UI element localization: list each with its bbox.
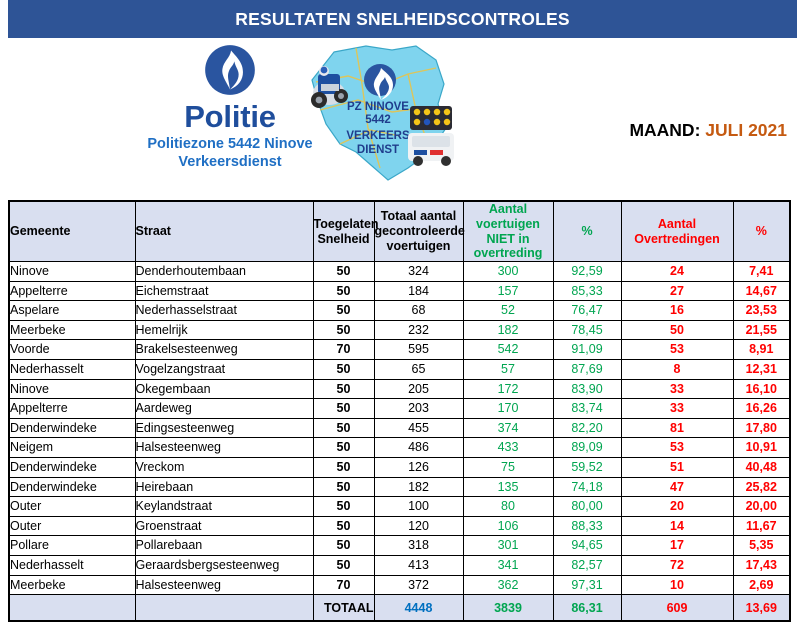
- month-label: MAAND: JULI 2021: [629, 120, 787, 141]
- cell-overtredingen: 33: [621, 379, 733, 399]
- cell-overtredingen: 10: [621, 575, 733, 595]
- cell-totaal: 232: [374, 320, 463, 340]
- totals-pct-ok: 86,31: [553, 595, 621, 622]
- table-row: AppelterreEichemstraat5018415785,332714,…: [9, 281, 790, 301]
- cell-niet-in-overtreding: 300: [463, 262, 553, 282]
- cell-niet-in-overtreding: 80: [463, 497, 553, 517]
- cell-straat: Vogelzangstraat: [135, 359, 313, 379]
- cell-totaal: 595: [374, 340, 463, 360]
- cell-niet-in-overtreding: 341: [463, 555, 553, 575]
- cell-straat: Groenstraat: [135, 516, 313, 536]
- cell-snelheid: 50: [313, 516, 374, 536]
- cell-niet-in-overtreding: 52: [463, 301, 553, 321]
- cell-straat: Edingsesteenweg: [135, 418, 313, 438]
- cell-niet-in-overtreding: 106: [463, 516, 553, 536]
- cell-niet-in-overtreding: 374: [463, 418, 553, 438]
- table-row: AspelareNederhasselstraat50685276,471623…: [9, 301, 790, 321]
- cell-niet-in-overtreding: 301: [463, 536, 553, 556]
- cell-totaal: 203: [374, 399, 463, 419]
- table-header-row: Gemeente Straat Toegelaten Snelheid Tota…: [9, 201, 790, 262]
- cell-snelheid: 50: [313, 262, 374, 282]
- cell-pct-ok: 89,09: [553, 438, 621, 458]
- cell-gemeente: Meerbeke: [9, 320, 135, 340]
- emblem-line-4: DIENST: [357, 144, 399, 156]
- cell-niet-in-overtreding: 182: [463, 320, 553, 340]
- cell-snelheid: 50: [313, 359, 374, 379]
- cell-overtredingen: 53: [621, 438, 733, 458]
- emblem-line-3: VERKEERS: [346, 130, 410, 142]
- col-header-niet-in-overtreding: Aantal voertuigen NIET in overtreding: [463, 201, 553, 262]
- cell-snelheid: 70: [313, 575, 374, 595]
- cell-niet-in-overtreding: 157: [463, 281, 553, 301]
- cell-straat: Heirebaan: [135, 477, 313, 497]
- cell-snelheid: 50: [313, 477, 374, 497]
- table-row: NinoveOkegembaan5020517283,903316,10: [9, 379, 790, 399]
- col-header-totaal-gecontroleerde: Totaal aantal gecontroleerde voertuigen: [374, 201, 463, 262]
- cell-pct-ok: 91,09: [553, 340, 621, 360]
- totals-label: TOTAAL: [313, 595, 374, 622]
- cell-pct-ok: 80,00: [553, 497, 621, 517]
- cell-overtredingen: 14: [621, 516, 733, 536]
- cell-straat: Nederhasselstraat: [135, 301, 313, 321]
- cell-overtredingen: 20: [621, 497, 733, 517]
- cell-totaal: 372: [374, 575, 463, 595]
- cell-straat: Pollarebaan: [135, 536, 313, 556]
- cell-pct-bad: 17,43: [733, 555, 790, 575]
- table-row: MeerbekeHalsesteenweg7037236297,31102,69: [9, 575, 790, 595]
- cell-overtredingen: 47: [621, 477, 733, 497]
- cell-overtredingen: 50: [621, 320, 733, 340]
- cell-pct-bad: 2,69: [733, 575, 790, 595]
- emblem-line-2: 5442: [365, 114, 391, 126]
- cell-gemeente: Nederhasselt: [9, 555, 135, 575]
- cell-overtredingen: 16: [621, 301, 733, 321]
- cell-totaal: 126: [374, 457, 463, 477]
- cell-gemeente: Meerbeke: [9, 575, 135, 595]
- totals-overtredingen: 609: [621, 595, 733, 622]
- col-header-aantal-overtredingen: Aantal Overtredingen: [621, 201, 733, 262]
- table-row: OuterKeylandstraat501008080,002020,00: [9, 497, 790, 517]
- cell-overtredingen: 8: [621, 359, 733, 379]
- cell-gemeente: Nederhasselt: [9, 359, 135, 379]
- cell-snelheid: 50: [313, 555, 374, 575]
- col-header-pct-ok: %: [553, 201, 621, 262]
- cell-overtredingen: 72: [621, 555, 733, 575]
- cell-straat: Okegembaan: [135, 379, 313, 399]
- cell-gemeente: Voorde: [9, 340, 135, 360]
- cell-totaal: 120: [374, 516, 463, 536]
- cell-gemeente: Pollare: [9, 536, 135, 556]
- report-page: RESULTATEN SNELHEIDSCONTROLES Politie Po…: [0, 0, 797, 620]
- emblem-line-1: PZ NINOVE: [347, 101, 409, 113]
- col-header-straat: Straat: [135, 201, 313, 262]
- cell-pct-ok: 92,59: [553, 262, 621, 282]
- cell-pct-bad: 23,53: [733, 301, 790, 321]
- cell-overtredingen: 33: [621, 399, 733, 419]
- cell-pct-ok: 74,18: [553, 477, 621, 497]
- cell-snelheid: 50: [313, 320, 374, 340]
- totals-spacer-straat: [135, 595, 313, 622]
- cell-niet-in-overtreding: 170: [463, 399, 553, 419]
- cell-totaal: 324: [374, 262, 463, 282]
- col-header-toegelaten-snelheid: Toegelaten Snelheid: [313, 201, 374, 262]
- cell-totaal: 413: [374, 555, 463, 575]
- cell-straat: Eichemstraat: [135, 281, 313, 301]
- cell-pct-bad: 40,48: [733, 457, 790, 477]
- cell-niet-in-overtreding: 75: [463, 457, 553, 477]
- page-title: RESULTATEN SNELHEIDSCONTROLES: [235, 9, 569, 30]
- cell-niet-in-overtreding: 172: [463, 379, 553, 399]
- cell-pct-ok: 94,65: [553, 536, 621, 556]
- cell-gemeente: Appelterre: [9, 281, 135, 301]
- table-row: PollarePollarebaan5031830194,65175,35: [9, 536, 790, 556]
- cell-pct-ok: 97,31: [553, 575, 621, 595]
- cell-pct-bad: 12,31: [733, 359, 790, 379]
- table-row: NederhasseltVogelzangstraat50655787,6981…: [9, 359, 790, 379]
- results-table: Gemeente Straat Toegelaten Snelheid Tota…: [8, 200, 791, 622]
- totals-spacer-gemeente: [9, 595, 135, 622]
- cell-pct-ok: 76,47: [553, 301, 621, 321]
- cell-pct-ok: 83,74: [553, 399, 621, 419]
- cell-overtredingen: 27: [621, 281, 733, 301]
- table-row: MeerbekeHemelrijk5023218278,455021,55: [9, 320, 790, 340]
- cell-straat: Halsesteenweg: [135, 575, 313, 595]
- cell-snelheid: 50: [313, 379, 374, 399]
- cell-gemeente: Outer: [9, 497, 135, 517]
- cell-pct-bad: 10,91: [733, 438, 790, 458]
- cell-pct-bad: 16,26: [733, 399, 790, 419]
- cell-pct-ok: 88,33: [553, 516, 621, 536]
- cell-snelheid: 70: [313, 340, 374, 360]
- table-row: NinoveDenderhoutembaan5032430092,59247,4…: [9, 262, 790, 282]
- cell-snelheid: 50: [313, 418, 374, 438]
- cell-straat: Keylandstraat: [135, 497, 313, 517]
- totals-niet: 3839: [463, 595, 553, 622]
- cell-gemeente: Appelterre: [9, 399, 135, 419]
- police-car-photo: [408, 133, 454, 166]
- month-label-key: MAAND:: [629, 120, 700, 140]
- led-lightbar-photo: [410, 106, 452, 130]
- cell-gemeente: Ninove: [9, 379, 135, 399]
- cell-totaal: 455: [374, 418, 463, 438]
- cell-snelheid: 50: [313, 438, 374, 458]
- cell-pct-ok: 82,57: [553, 555, 621, 575]
- cell-niet-in-overtreding: 57: [463, 359, 553, 379]
- results-table-wrapper: Gemeente Straat Toegelaten Snelheid Tota…: [8, 200, 789, 622]
- cell-totaal: 486: [374, 438, 463, 458]
- cell-totaal: 184: [374, 281, 463, 301]
- cell-totaal: 205: [374, 379, 463, 399]
- cell-totaal: 182: [374, 477, 463, 497]
- report-header: Politie Politiezone 5442 Ninove Verkeers…: [0, 38, 797, 196]
- cell-overtredingen: 51: [621, 457, 733, 477]
- cell-pct-bad: 20,00: [733, 497, 790, 517]
- table-row: OuterGroenstraat5012010688,331411,67: [9, 516, 790, 536]
- cell-pct-bad: 11,67: [733, 516, 790, 536]
- table-row: AppelterreAardeweg5020317083,743316,26: [9, 399, 790, 419]
- cell-gemeente: Aspelare: [9, 301, 135, 321]
- cell-pct-ok: 59,52: [553, 457, 621, 477]
- cell-niet-in-overtreding: 542: [463, 340, 553, 360]
- cell-straat: Vreckom: [135, 457, 313, 477]
- page-banner: RESULTATEN SNELHEIDSCONTROLES: [8, 0, 797, 38]
- table-footer-row: TOTAAL 4448 3839 86,31 609 13,69: [9, 595, 790, 622]
- table-row: NederhasseltGeraardsbergsesteenweg504133…: [9, 555, 790, 575]
- cell-pct-bad: 21,55: [733, 320, 790, 340]
- cell-straat: Geraardsbergsesteenweg: [135, 555, 313, 575]
- cell-totaal: 318: [374, 536, 463, 556]
- cell-snelheid: 50: [313, 457, 374, 477]
- cell-totaal: 68: [374, 301, 463, 321]
- cell-pct-ok: 82,20: [553, 418, 621, 438]
- cell-snelheid: 50: [313, 399, 374, 419]
- month-label-value: JULI 2021: [705, 120, 787, 140]
- cell-pct-ok: 83,90: [553, 379, 621, 399]
- cell-straat: Hemelrijk: [135, 320, 313, 340]
- cell-niet-in-overtreding: 135: [463, 477, 553, 497]
- cell-gemeente: Outer: [9, 516, 135, 536]
- cell-straat: Halsesteenweg: [135, 438, 313, 458]
- cell-niet-in-overtreding: 433: [463, 438, 553, 458]
- cell-pct-bad: 25,82: [733, 477, 790, 497]
- table-row: NeigemHalsesteenweg5048643389,095310,91: [9, 438, 790, 458]
- cell-overtredingen: 24: [621, 262, 733, 282]
- cell-straat: Denderhoutembaan: [135, 262, 313, 282]
- cell-totaal: 100: [374, 497, 463, 517]
- cell-niet-in-overtreding: 362: [463, 575, 553, 595]
- cell-straat: Brakelsesteenweg: [135, 340, 313, 360]
- table-row: DenderwindekeVreckom501267559,525140,48: [9, 457, 790, 477]
- cell-pct-bad: 17,80: [733, 418, 790, 438]
- police-flame-icon: [203, 43, 257, 97]
- totals-totaal: 4448: [374, 595, 463, 622]
- table-body: NinoveDenderhoutembaan5032430092,59247,4…: [9, 262, 790, 595]
- cell-straat: Aardeweg: [135, 399, 313, 419]
- cell-pct-bad: 14,67: [733, 281, 790, 301]
- table-row: VoordeBrakelsesteenweg7059554291,09538,9…: [9, 340, 790, 360]
- cell-totaal: 65: [374, 359, 463, 379]
- cell-snelheid: 50: [313, 301, 374, 321]
- cell-snelheid: 50: [313, 497, 374, 517]
- cell-gemeente: Denderwindeke: [9, 477, 135, 497]
- cell-gemeente: Neigem: [9, 438, 135, 458]
- cell-pct-bad: 8,91: [733, 340, 790, 360]
- col-header-gemeente: Gemeente: [9, 201, 135, 262]
- cell-snelheid: 50: [313, 536, 374, 556]
- cell-snelheid: 50: [313, 281, 374, 301]
- cell-pct-bad: 7,41: [733, 262, 790, 282]
- cell-pct-bad: 16,10: [733, 379, 790, 399]
- cell-pct-ok: 78,45: [553, 320, 621, 340]
- table-row: DenderwindekeHeirebaan5018213574,184725,…: [9, 477, 790, 497]
- cell-pct-bad: 5,35: [733, 536, 790, 556]
- cell-gemeente: Denderwindeke: [9, 457, 135, 477]
- cell-overtredingen: 17: [621, 536, 733, 556]
- cell-gemeente: Denderwindeke: [9, 418, 135, 438]
- cell-pct-ok: 87,69: [553, 359, 621, 379]
- cell-overtredingen: 81: [621, 418, 733, 438]
- cell-gemeente: Ninove: [9, 262, 135, 282]
- cell-overtredingen: 53: [621, 340, 733, 360]
- totals-pct-bad: 13,69: [733, 595, 790, 622]
- col-header-pct-bad: %: [733, 201, 790, 262]
- table-row: DenderwindekeEdingsesteenweg5045537482,2…: [9, 418, 790, 438]
- cell-pct-ok: 85,33: [553, 281, 621, 301]
- zone-map-emblem-icon: PZ NINOVE 5442 VERKEERS DIENST: [296, 40, 461, 185]
